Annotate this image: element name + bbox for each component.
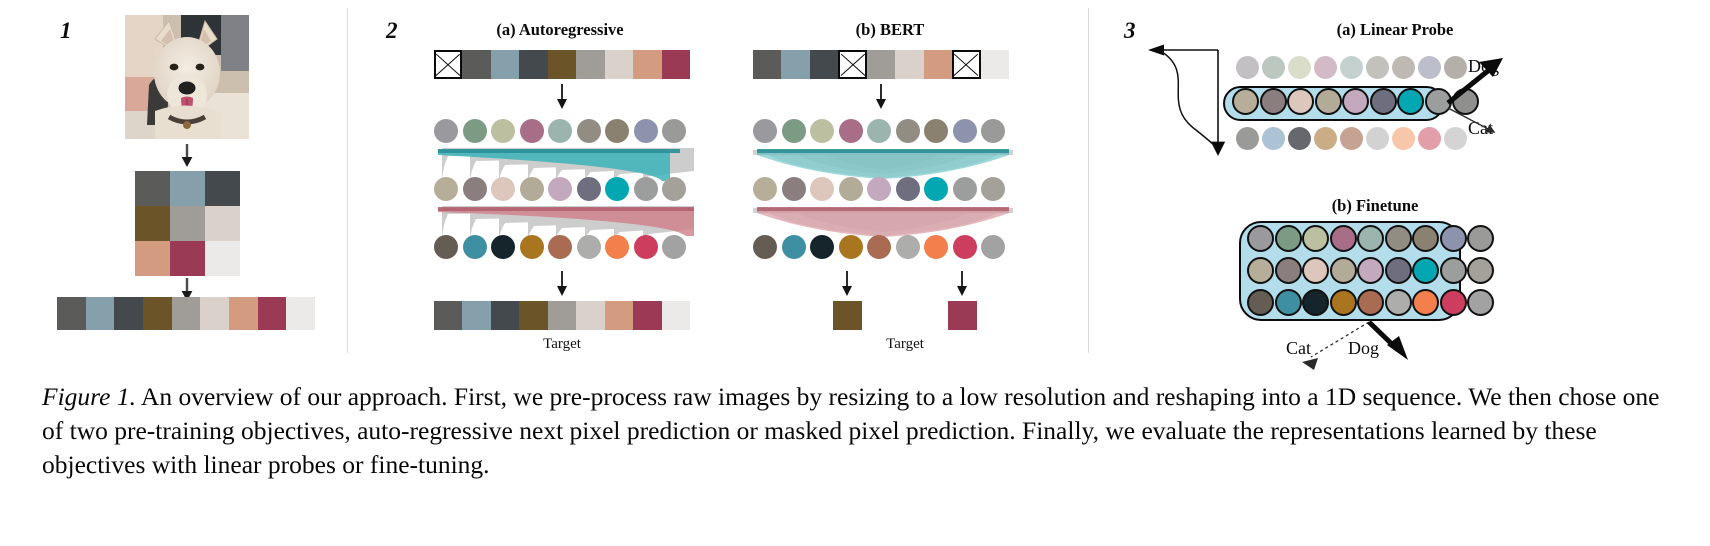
pixel-token <box>229 297 258 330</box>
finetune-row-3[interactable] <box>1247 289 1494 316</box>
token-node <box>1302 257 1329 284</box>
pixel-token <box>633 50 661 79</box>
pixel-token <box>924 50 952 79</box>
pixel-token <box>753 50 781 79</box>
token-node <box>867 119 891 143</box>
token-node <box>1366 56 1389 79</box>
pixel-token <box>662 50 690 79</box>
pixel-token <box>605 50 633 79</box>
pixel-token <box>548 50 576 79</box>
pixel-token <box>605 301 633 330</box>
token-node <box>896 119 920 143</box>
pixel-token <box>981 50 1009 79</box>
token-node <box>605 119 629 143</box>
pixel-cell <box>170 206 205 241</box>
bert-target-square <box>833 301 862 330</box>
token-node <box>1262 56 1285 79</box>
token-node <box>1247 257 1274 284</box>
bert-layer-row-2 <box>753 177 1005 201</box>
pixel-token <box>810 50 838 79</box>
token-node <box>1288 56 1311 79</box>
arrow-bert-target-2 <box>955 271 969 297</box>
linear-probe-frozen-top-row <box>1236 56 1467 79</box>
sequence-1d <box>57 297 315 330</box>
finetune-label-dog: Dog <box>1348 338 1379 359</box>
linear-probe-label-dog: Dog <box>1468 56 1499 77</box>
token-node <box>1275 257 1302 284</box>
token-node <box>463 235 487 259</box>
token-node <box>1418 56 1441 79</box>
token-node <box>1357 257 1384 284</box>
pixel-token <box>258 297 287 330</box>
token-node <box>1236 56 1259 79</box>
token-node <box>782 119 806 143</box>
pixel-token <box>519 301 547 330</box>
token-node <box>577 235 601 259</box>
autoregressive-input-sequence <box>434 50 690 79</box>
token-node <box>1444 56 1467 79</box>
pixel-cell <box>170 171 205 206</box>
token-node <box>810 177 834 201</box>
pixel-token <box>576 50 604 79</box>
pixel-token <box>57 297 86 330</box>
token-node <box>867 235 891 259</box>
linear-probe-trained-row[interactable] <box>1232 88 1479 115</box>
pixel-token <box>895 50 923 79</box>
arrow-photo-to-grid <box>180 144 194 168</box>
token-node <box>1467 257 1494 284</box>
token-node <box>896 177 920 201</box>
panel-2-number: 2 <box>386 18 398 44</box>
token-node <box>491 177 515 201</box>
token-node <box>1330 257 1357 284</box>
token-node <box>924 119 948 143</box>
token-node <box>1444 127 1467 150</box>
linear-probe-title: (a) Linear Probe <box>1290 20 1500 40</box>
token-node <box>953 119 977 143</box>
token-node <box>1247 225 1274 252</box>
token-node <box>1262 127 1285 150</box>
pixel-token <box>662 301 690 330</box>
token-node <box>1275 225 1302 252</box>
panel-divider-1 <box>347 8 348 353</box>
token-node <box>981 235 1005 259</box>
pixel-token <box>114 297 143 330</box>
finetune-row-2[interactable] <box>1247 257 1494 284</box>
token-node <box>1340 127 1363 150</box>
token-node <box>662 235 686 259</box>
token-node <box>548 235 572 259</box>
token-node <box>1314 56 1337 79</box>
token-node <box>1370 88 1397 115</box>
autoregressive-title: (a) Autoregressive <box>425 20 695 40</box>
token-node <box>1452 88 1479 115</box>
token-node <box>1385 225 1412 252</box>
token-node <box>1357 289 1384 316</box>
token-node <box>1412 289 1439 316</box>
mask-token <box>952 50 980 79</box>
token-node <box>1440 257 1467 284</box>
pixel-token <box>462 50 490 79</box>
token-node <box>1392 127 1415 150</box>
token-node <box>810 235 834 259</box>
token-node <box>1397 88 1424 115</box>
bert-target-square <box>948 301 977 330</box>
pixel-token <box>781 50 809 79</box>
pixel-cell <box>135 241 170 276</box>
token-node <box>1340 56 1363 79</box>
token-node <box>1412 225 1439 252</box>
finetune-label-cat: Cat <box>1286 338 1311 359</box>
pixel-token <box>286 297 315 330</box>
linear-probe-label-cat: Cat <box>1468 118 1493 139</box>
token-node <box>1425 88 1452 115</box>
token-node <box>1467 289 1494 316</box>
pixel-token <box>200 297 229 330</box>
token-node <box>981 177 1005 201</box>
token-node <box>634 235 658 259</box>
token-node <box>634 177 658 201</box>
linear-probe-loop-arrow <box>1148 45 1218 149</box>
pixel-cell <box>135 206 170 241</box>
token-node <box>463 177 487 201</box>
autoregressive-target-sequence <box>434 301 690 330</box>
token-node <box>1302 225 1329 252</box>
token-node <box>577 177 601 201</box>
token-node <box>1392 56 1415 79</box>
finetune-title: (b) Finetune <box>1275 196 1475 216</box>
token-node <box>548 177 572 201</box>
token-node <box>1247 289 1274 316</box>
mask-token <box>434 50 462 79</box>
token-node <box>662 119 686 143</box>
pixel-token <box>434 301 462 330</box>
token-node <box>1275 289 1302 316</box>
token-node <box>810 119 834 143</box>
token-node <box>434 235 458 259</box>
token-node <box>782 235 806 259</box>
token-node <box>924 177 948 201</box>
token-node <box>491 119 515 143</box>
token-node <box>953 177 977 201</box>
token-node <box>1467 225 1494 252</box>
token-node <box>605 177 629 201</box>
token-node <box>753 177 777 201</box>
finetune-row-1[interactable] <box>1247 225 1494 252</box>
linear-probe-frozen-bottom-row <box>1236 127 1467 150</box>
pixel-cell <box>205 206 240 241</box>
pixel-token <box>867 50 895 79</box>
token-node <box>634 119 658 143</box>
bert-layer-row-3 <box>753 235 1005 259</box>
pixel-token <box>519 50 547 79</box>
dog-photo <box>125 15 249 139</box>
token-node <box>839 235 863 259</box>
token-node <box>1440 289 1467 316</box>
figure-root: 1 <box>0 0 1710 546</box>
token-node <box>1385 257 1412 284</box>
bert-layer-row-1 <box>753 119 1005 143</box>
token-node <box>548 119 572 143</box>
token-node <box>520 177 544 201</box>
autoregressive-layer-row-1 <box>434 119 686 143</box>
token-node <box>1232 88 1259 115</box>
pixel-token <box>633 301 661 330</box>
token-node <box>1385 289 1412 316</box>
pixel-token <box>86 297 115 330</box>
token-node <box>520 235 544 259</box>
bert-title: (b) BERT <box>775 20 1005 40</box>
pixel-token <box>576 301 604 330</box>
pixel-token <box>548 301 576 330</box>
token-node <box>577 119 601 143</box>
panel-3-number: 3 <box>1124 18 1136 44</box>
token-node <box>1314 127 1337 150</box>
arrow-ar-input-to-model <box>555 84 569 110</box>
token-node <box>520 119 544 143</box>
token-node <box>753 119 777 143</box>
panel-1-number: 1 <box>60 18 72 44</box>
pixel-token <box>143 297 172 330</box>
bert-input-sequence <box>753 50 1009 79</box>
token-node <box>605 235 629 259</box>
token-node <box>839 119 863 143</box>
autoregressive-layer-row-3 <box>434 235 686 259</box>
token-node <box>924 235 948 259</box>
pixel-cell <box>205 241 240 276</box>
bert-target-label: Target <box>815 336 995 353</box>
token-node <box>867 177 891 201</box>
pixel-token <box>491 50 519 79</box>
token-node <box>1418 127 1441 150</box>
token-node <box>1366 127 1389 150</box>
token-node <box>1412 257 1439 284</box>
autoregressive-layer-row-2 <box>434 177 686 201</box>
token-node <box>839 177 863 201</box>
token-node <box>662 177 686 201</box>
token-node <box>463 119 487 143</box>
arrow-bert-target-1 <box>840 271 854 297</box>
token-node <box>1236 127 1259 150</box>
token-node <box>1302 289 1329 316</box>
pixel-token <box>462 301 490 330</box>
token-node <box>491 235 515 259</box>
token-node <box>1287 88 1314 115</box>
token-node <box>1342 88 1369 115</box>
token-node <box>1330 225 1357 252</box>
token-node <box>896 235 920 259</box>
token-node <box>434 119 458 143</box>
token-node <box>1315 88 1342 115</box>
token-node <box>1440 225 1467 252</box>
pixel-cell <box>135 171 170 206</box>
mask-token <box>838 50 866 79</box>
arrow-bert-input-to-model <box>874 84 888 110</box>
token-node <box>981 119 1005 143</box>
token-node <box>782 177 806 201</box>
token-node <box>1288 127 1311 150</box>
token-node <box>434 177 458 201</box>
panel-divider-2 <box>1088 8 1089 353</box>
figure-caption: Figure 1. An overview of our approach. F… <box>42 380 1672 482</box>
token-node <box>953 235 977 259</box>
token-node <box>1330 289 1357 316</box>
autoregressive-target-label: Target <box>434 336 690 353</box>
token-node <box>1357 225 1384 252</box>
pixel-grid-3x3 <box>135 171 240 276</box>
token-node <box>753 235 777 259</box>
pixel-cell <box>205 171 240 206</box>
arrow-ar-model-to-target <box>555 271 569 297</box>
pixel-token <box>491 301 519 330</box>
figure-number: Figure 1. <box>42 382 136 411</box>
pixel-cell <box>170 241 205 276</box>
token-node <box>1260 88 1287 115</box>
figure-caption-text: An overview of our approach. First, we p… <box>42 382 1659 479</box>
pixel-token <box>172 297 201 330</box>
